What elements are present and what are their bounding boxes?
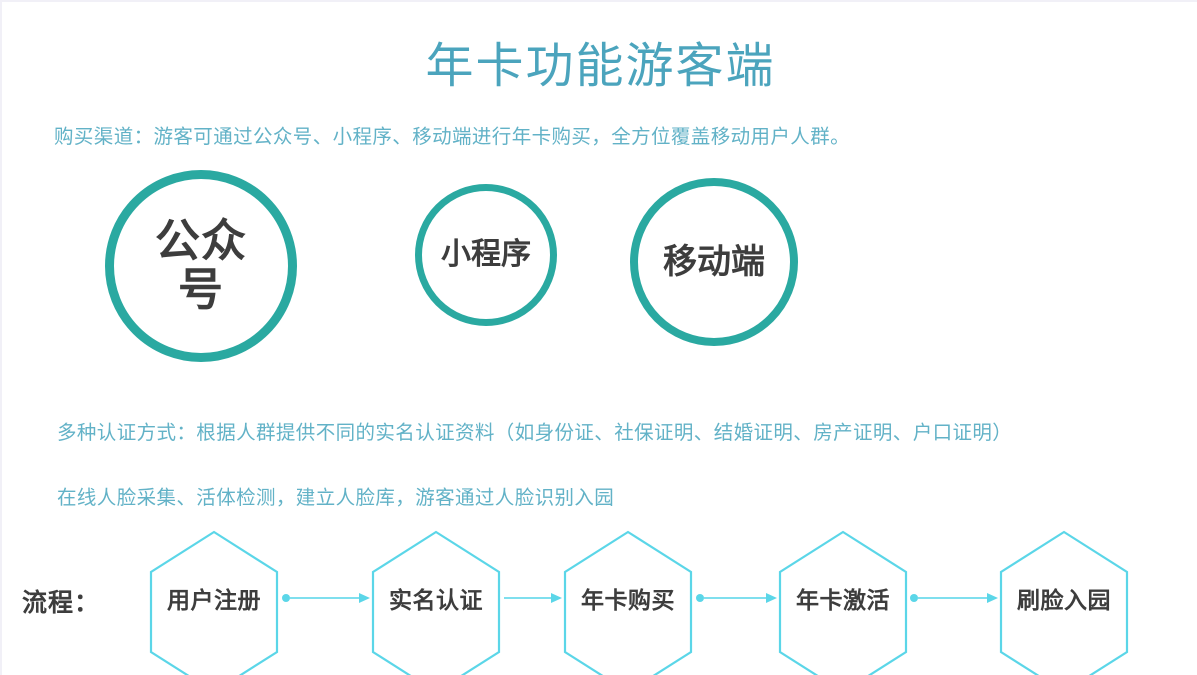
slide-canvas: 年卡功能游客端 购买渠道：游客可通过公众号、小程序、移动端进行年卡购买，全方位覆… [0, 0, 1197, 675]
flow-step-label-card-purchase: 年卡购买 [581, 581, 675, 615]
channel-circle-label: 小程序 [441, 239, 531, 271]
channel-circle-label: 移动端 [663, 244, 765, 281]
flow-step-label-user-register: 用户注册 [167, 581, 261, 615]
channel-circle-label: 公众号 [146, 217, 256, 314]
paragraph-face-recognition: 在线人脸采集、活体检测，建立人脸库，游客通过人脸识别入园 [57, 481, 614, 510]
flow-connector-2 [504, 593, 562, 603]
paragraph-purchase-channels: 购买渠道：游客可通过公众号、小程序、移动端进行年卡购买，全方位覆盖移动用户人群。 [54, 120, 850, 149]
channel-circle-mobile-app: 移动端 [630, 178, 798, 346]
flow-connector-4 [910, 593, 998, 603]
flow-connector-1 [282, 593, 370, 603]
flow-step-label-real-name-auth: 实名认证 [389, 581, 483, 615]
paragraph-authentication-methods: 多种认证方式：根据人群提供不同的实名认证资料（如身份证、社保证明、结婚证明、房产… [57, 416, 1012, 445]
page-title: 年卡功能游客端 [2, 26, 1197, 96]
channel-circle-mini-program: 小程序 [415, 184, 557, 326]
flow-connector-3 [696, 593, 777, 603]
flow-step-label-card-activation: 年卡激活 [796, 581, 890, 615]
channel-circle-official-account: 公众号 [105, 170, 297, 362]
flow-step-label-face-entry: 刷脸入园 [1017, 581, 1111, 615]
